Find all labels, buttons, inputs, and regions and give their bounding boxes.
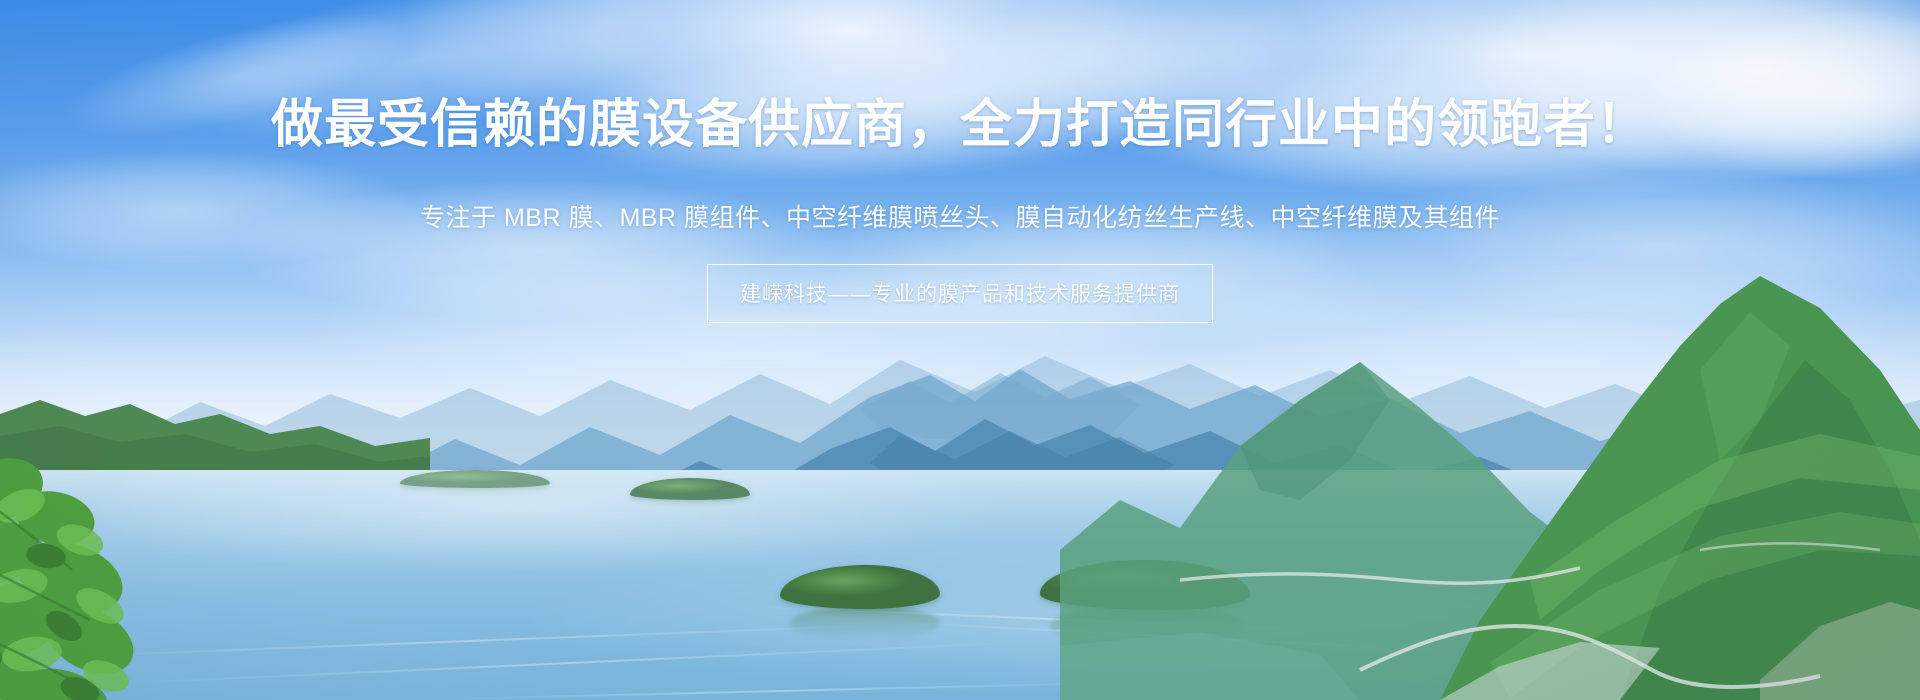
tagline-container: 建嵘科技——专业的膜产品和技术服务提供商 — [0, 264, 1920, 323]
island-reflection — [790, 606, 940, 640]
banner-text-block: 做最受信赖的膜设备供应商，全力打造同行业中的领跑者！ 专注于 MBR 膜、MBR… — [0, 96, 1920, 323]
foreground-foliage — [0, 440, 250, 700]
banner-tagline: 建嵘科技——专业的膜产品和技术服务提供商 — [707, 264, 1213, 323]
hero-banner: 做最受信赖的膜设备供应商，全力打造同行业中的领跑者！ 专注于 MBR 膜、MBR… — [0, 0, 1920, 700]
banner-headline: 做最受信赖的膜设备供应商，全力打造同行业中的领跑者！ — [0, 96, 1920, 156]
banner-subheadline: 专注于 MBR 膜、MBR 膜组件、中空纤维膜喷丝头、膜自动化纺丝生产线、中空纤… — [0, 198, 1920, 234]
